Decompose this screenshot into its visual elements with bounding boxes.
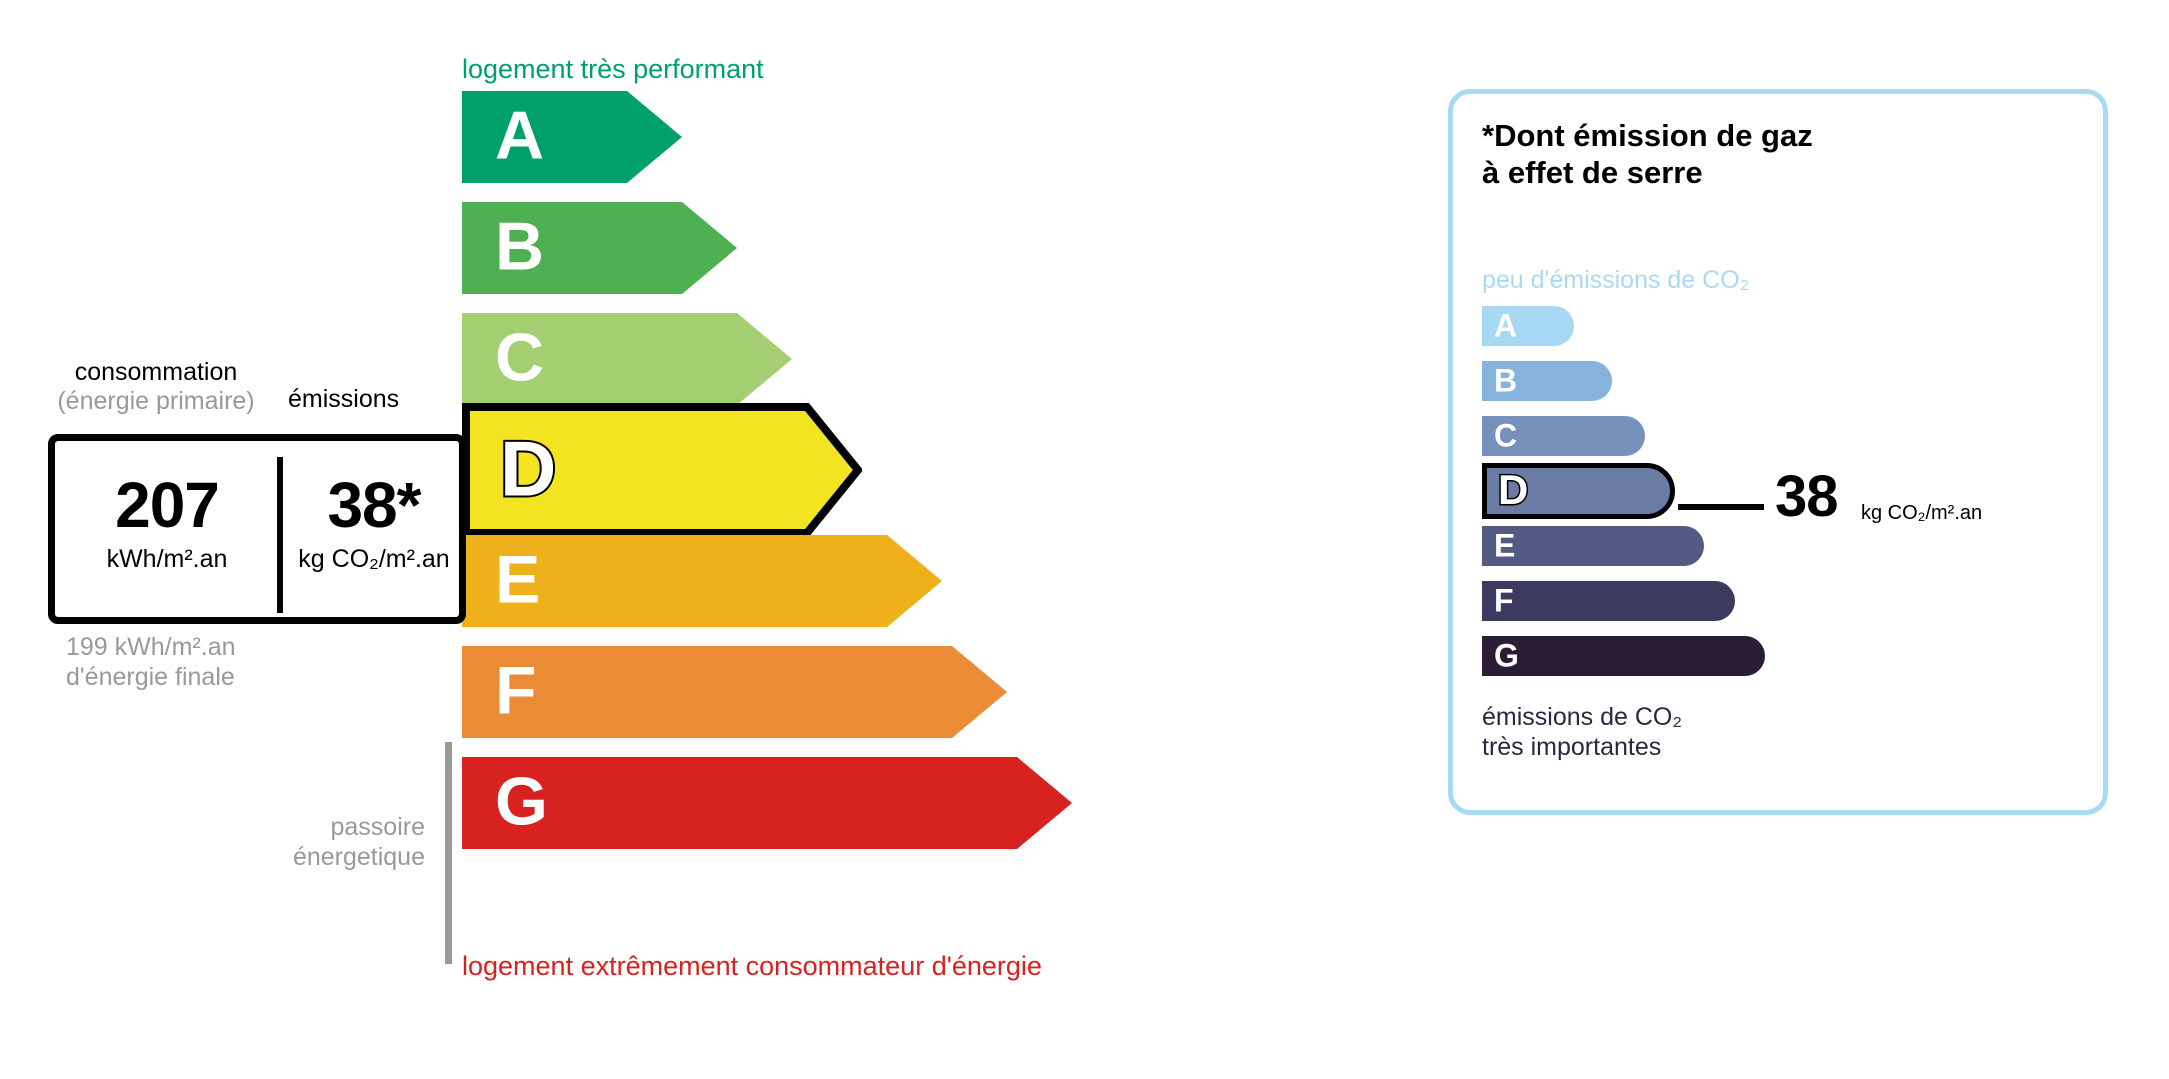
- emissions-value: 38*: [287, 473, 461, 537]
- co2-title-line2: à effet de serre: [1482, 154, 1813, 191]
- dpe-top-caption: logement très performant: [462, 54, 764, 85]
- emissions-unit: kg CO₂/m².an: [287, 547, 461, 572]
- co2-class-letter-a: A: [1494, 309, 1517, 341]
- dpe-class-letter-c: C: [495, 324, 544, 392]
- dpe-class-f: F: [462, 646, 1007, 738]
- co2-callout-value: 38: [1775, 468, 1838, 526]
- emissions-cell: 38* kg CO₂/m².an: [287, 473, 461, 572]
- co2-class-b: B: [1482, 361, 1612, 401]
- energy-performance-panel: logement très performant ABCDEFG logemen…: [0, 0, 1400, 1079]
- dpe-class-d: D: [462, 403, 862, 537]
- dpe-arrow-shape-f: [462, 646, 1007, 738]
- consumption-value: 207: [61, 473, 273, 537]
- consumption-unit: kWh/m².an: [61, 547, 273, 572]
- dpe-class-a: A: [462, 91, 682, 183]
- dpe-class-letter-a: A: [495, 102, 544, 170]
- dpe-class-letter-e: E: [495, 546, 540, 614]
- co2-class-letter-g: G: [1494, 639, 1519, 671]
- final-energy-note: 199 kWh/m².an d'énergie finale: [66, 632, 236, 692]
- passoire-line1: passoire: [220, 812, 425, 842]
- value-box: 207 kWh/m².an 38* kg CO₂/m².an: [48, 434, 466, 624]
- co2-class-letter-c: C: [1494, 419, 1517, 451]
- dpe-class-b: B: [462, 202, 737, 294]
- passoire-bracket: [445, 742, 452, 964]
- co2-title-line1: *Dont émission de gaz: [1482, 117, 1813, 154]
- dpe-arrow-shape-g: [462, 757, 1072, 849]
- co2-top-caption: peu d'émissions de CO₂: [1482, 266, 1749, 295]
- co2-bottom-line1: émissions de CO₂: [1482, 702, 1682, 732]
- dpe-class-c: C: [462, 313, 792, 405]
- co2-panel-title: *Dont émission de gaz à effet de serre: [1482, 117, 1813, 191]
- final-energy-line2: d'énergie finale: [66, 662, 236, 692]
- co2-class-d: D: [1482, 463, 1675, 519]
- dpe-class-letter-b: B: [495, 213, 544, 281]
- co2-bar-shape-g: [1482, 636, 1765, 676]
- co2-class-c: C: [1482, 416, 1645, 456]
- co2-class-a: A: [1482, 306, 1574, 346]
- dpe-class-e: E: [462, 535, 942, 627]
- co2-callout-unit: kg CO₂/m².an: [1861, 503, 1982, 523]
- co2-class-letter-d: D: [1498, 469, 1528, 511]
- co2-class-letter-e: E: [1494, 529, 1515, 561]
- final-energy-line1: 199 kWh/m².an: [66, 632, 236, 662]
- emissions-label: émissions: [288, 385, 399, 414]
- dpe-class-letter-f: F: [495, 657, 537, 725]
- consumption-cell: 207 kWh/m².an: [61, 473, 273, 572]
- dpe-bottom-caption: logement extrêmement consommateur d'éner…: [462, 951, 1042, 982]
- co2-callout-line: [1678, 504, 1764, 510]
- dpe-class-letter-d: D: [500, 429, 556, 507]
- co2-bottom-line2: très importantes: [1482, 732, 1682, 762]
- co2-emissions-panel: *Dont émission de gaz à effet de serre p…: [1448, 89, 2108, 815]
- co2-class-g: G: [1482, 636, 1765, 676]
- consumption-label-line2: (énergie primaire): [48, 387, 264, 416]
- consumption-label: consommation (énergie primaire): [48, 358, 264, 416]
- co2-bar-shape-f: [1482, 581, 1735, 621]
- passoire-label: passoire énergetique: [220, 812, 425, 872]
- co2-class-e: E: [1482, 526, 1704, 566]
- dpe-class-letter-g: G: [495, 768, 548, 836]
- co2-bottom-caption: émissions de CO₂ très importantes: [1482, 702, 1682, 762]
- co2-class-f: F: [1482, 581, 1735, 621]
- value-box-divider: [277, 457, 283, 613]
- consumption-label-line1: consommation: [75, 358, 238, 386]
- passoire-line2: énergetique: [220, 842, 425, 872]
- dpe-class-g: G: [462, 757, 1072, 849]
- co2-class-letter-f: F: [1494, 584, 1514, 616]
- co2-class-letter-b: B: [1494, 364, 1517, 396]
